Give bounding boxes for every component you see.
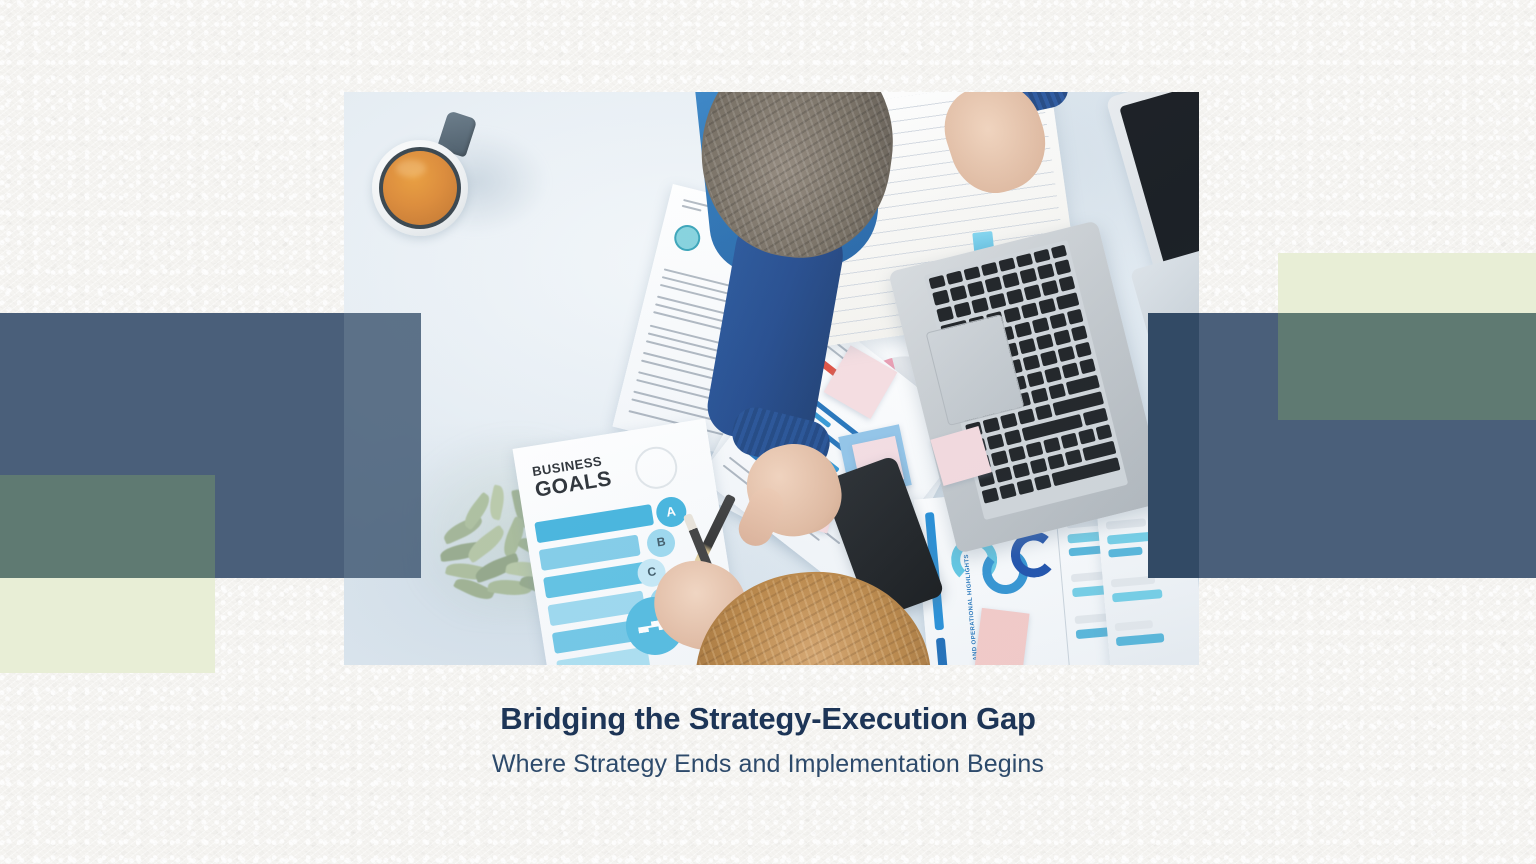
hero-photo: STRATEGIES 50% — [344, 92, 1199, 665]
page-title: Bridging the Strategy-Execution Gap — [0, 700, 1536, 737]
coffee-highlight — [396, 160, 426, 177]
goal-label-b: B — [656, 534, 667, 549]
decor-right-cream-block — [1278, 253, 1536, 313]
goal-label-c: C — [646, 564, 657, 579]
caption-block: Bridging the Strategy-Execution Gap Wher… — [0, 700, 1536, 779]
decor-left-sage-block — [0, 475, 215, 578]
decor-right-sage-block — [1278, 313, 1536, 420]
decor-right-slate-bar-over-photo — [1148, 313, 1199, 578]
decor-left-cream-block — [0, 578, 215, 673]
decor-left-slate-bar-overlay — [344, 313, 421, 578]
page-subtitle: Where Strategy Ends and Implementation B… — [0, 750, 1536, 779]
